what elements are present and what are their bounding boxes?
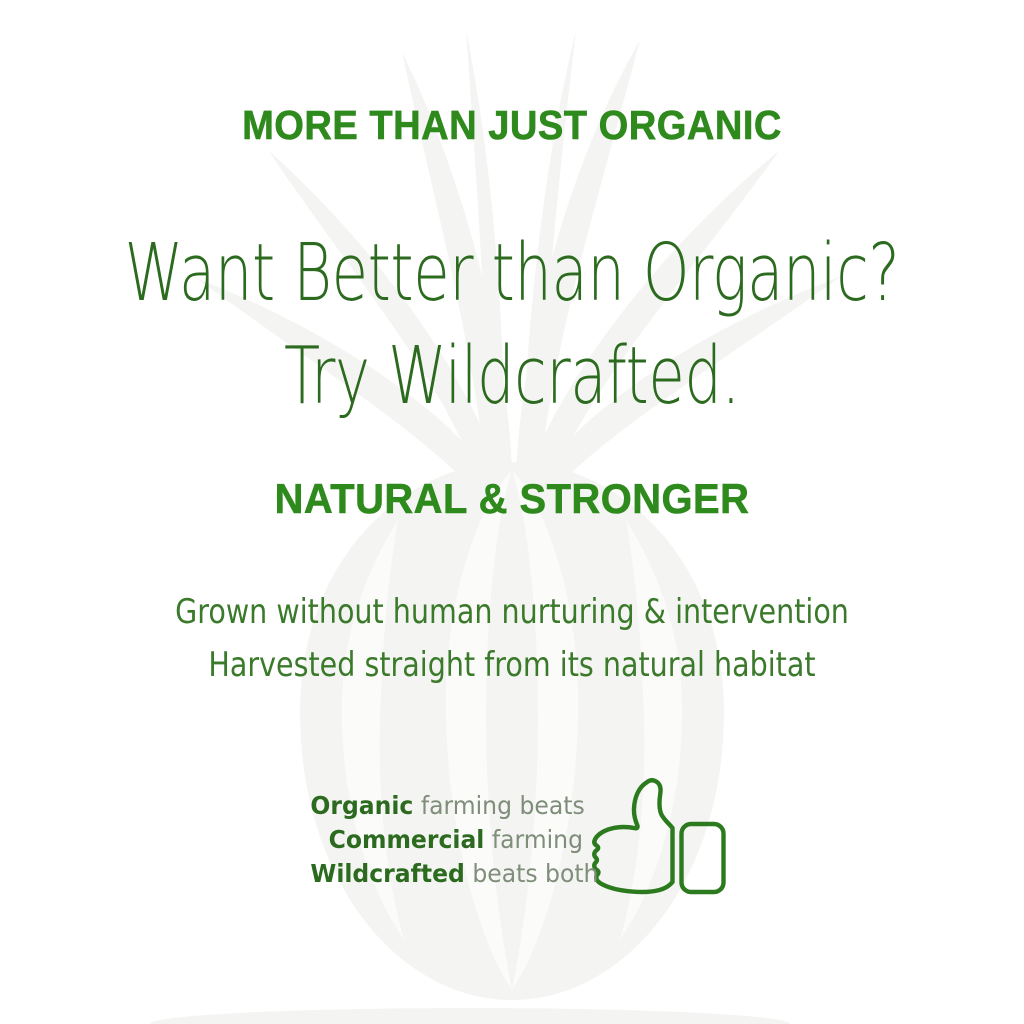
poster-content: MORE THAN JUST ORGANIC Want Better than …: [0, 0, 1024, 1024]
thumbs-up-icon: [589, 770, 731, 910]
comparison-line: Commercial farming: [310, 823, 583, 857]
page-title: Want Better than Organic? Try Wildcrafte…: [102, 222, 921, 427]
comparison-term: Commercial: [329, 825, 485, 854]
comparison-line: Wildcrafted beats both: [310, 857, 583, 891]
comparison-term: Wildcrafted: [310, 859, 464, 888]
poster-canvas: MORE THAN JUST ORGANIC Want Better than …: [0, 0, 1024, 1024]
comparison-term: Organic: [310, 791, 413, 820]
eyebrow-heading: MORE THAN JUST ORGANIC: [36, 103, 988, 148]
comparison-lines: Organic farming beats Commercial farming…: [310, 789, 583, 891]
comparison-phrase: farming beats: [413, 791, 584, 820]
headline-line-2: Try Wildcrafted.: [102, 325, 921, 428]
headline-line-1: Want Better than Organic?: [102, 222, 921, 325]
subheading: NATURAL & STRONGER: [26, 476, 999, 522]
comparison-block: Organic farming beats Commercial farming…: [0, 770, 1024, 910]
body-line-2: Harvested straight from its natural habi…: [82, 639, 942, 692]
body-line-1: Grown without human nurturing & interven…: [82, 586, 942, 639]
comparison-line: Organic farming beats: [310, 789, 583, 823]
comparison-phrase: farming: [484, 825, 583, 854]
comparison-phrase: beats both: [465, 859, 599, 888]
body-copy: Grown without human nurturing & interven…: [82, 586, 942, 692]
